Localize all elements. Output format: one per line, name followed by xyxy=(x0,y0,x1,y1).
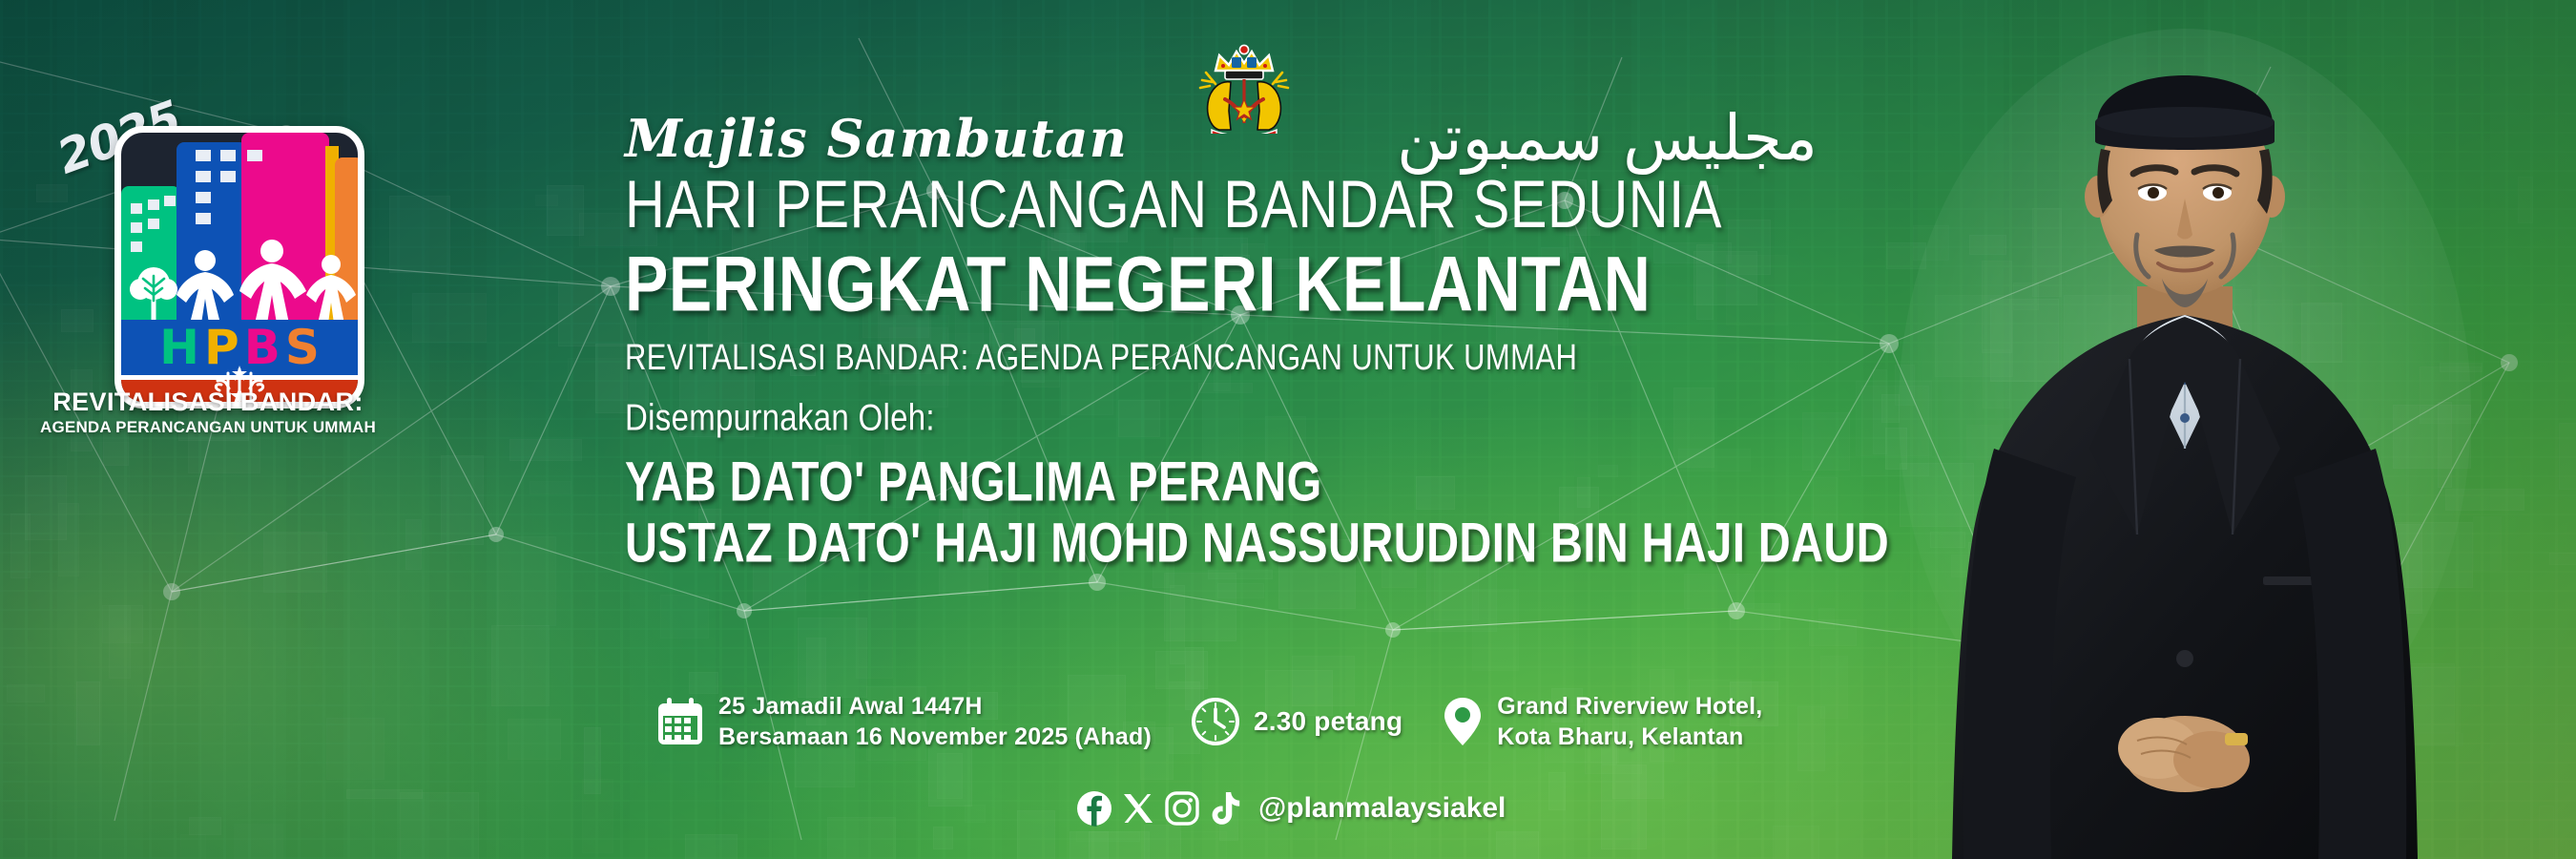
date-line2: Bersamaan 16 November 2025 (Ahad) xyxy=(718,722,1152,752)
facebook-icon[interactable] xyxy=(1076,790,1112,827)
hpbs-letter-s: S xyxy=(285,324,320,371)
clock-icon xyxy=(1192,698,1239,745)
event-info-row: 25 Jamadil Awal 1447H Bersamaan 16 Novem… xyxy=(656,691,1762,752)
calendar-icon xyxy=(656,697,704,746)
social-row: @planmalaysiakel xyxy=(1076,790,1506,827)
tree-icon xyxy=(129,261,178,320)
people-figures-icon xyxy=(177,236,358,324)
officiator-title: YAB DATO' PANGLIMA PERANG xyxy=(625,453,1961,512)
venue-line1: Grand Riverview Hotel, xyxy=(1497,691,1762,722)
jawi-title: مجليس سمبوتن xyxy=(1397,107,1818,170)
location-pin-icon xyxy=(1443,696,1483,747)
event-title-line1: HARI PERANCANGAN BANDAR SEDUNIA xyxy=(625,170,1961,239)
event-title-line2: PERINGKAT NEGERI KELANTAN xyxy=(625,245,1961,325)
tiktok-icon[interactable] xyxy=(1208,790,1244,827)
officiator-label: Disempurnakan Oleh: xyxy=(625,396,1961,439)
main-text-block: Majlis Sambutan مجليس سمبوتن HARI PERANC… xyxy=(625,113,1961,561)
officiator-name: USTAZ DATO' HAJI MOHD NASSURUDDIN BIN HA… xyxy=(625,514,1961,573)
time-info: 2.30 petang xyxy=(1192,698,1402,745)
instagram-icon[interactable] xyxy=(1164,790,1200,827)
date-info: 25 Jamadil Awal 1447H Bersamaan 16 Novem… xyxy=(656,691,1152,752)
event-theme: REVITALISASI BANDAR: AGENDA PERANCANGAN … xyxy=(625,337,1961,379)
logo-skyline xyxy=(121,133,358,320)
time-value: 2.30 petang xyxy=(1254,704,1402,739)
venue-line2: Kota Bharu, Kelantan xyxy=(1497,722,1762,752)
venue-info: Grand Riverview Hotel, Kota Bharu, Kelan… xyxy=(1443,691,1762,752)
date-line1: 25 Jamadil Awal 1447H xyxy=(718,691,1152,722)
x-twitter-icon[interactable] xyxy=(1120,790,1156,827)
dignitary-portrait xyxy=(1851,0,2519,859)
logo-tagline-line2: AGENDA PERANCANGAN UNTUK UMMAH xyxy=(11,418,405,437)
event-banner: 2025 xyxy=(0,0,2576,859)
hpbs-letter-h: H xyxy=(159,324,199,371)
hpbs-logo: 2025 xyxy=(46,94,370,409)
logo-tagline: REVITALISASI BANDAR: AGENDA PERANCANGAN … xyxy=(11,388,405,437)
logo-tagline-line1: REVITALISASI BANDAR: xyxy=(11,388,405,417)
logo-card: H P B S xyxy=(114,126,364,409)
social-handle[interactable]: @planmalaysiakel xyxy=(1258,792,1506,825)
